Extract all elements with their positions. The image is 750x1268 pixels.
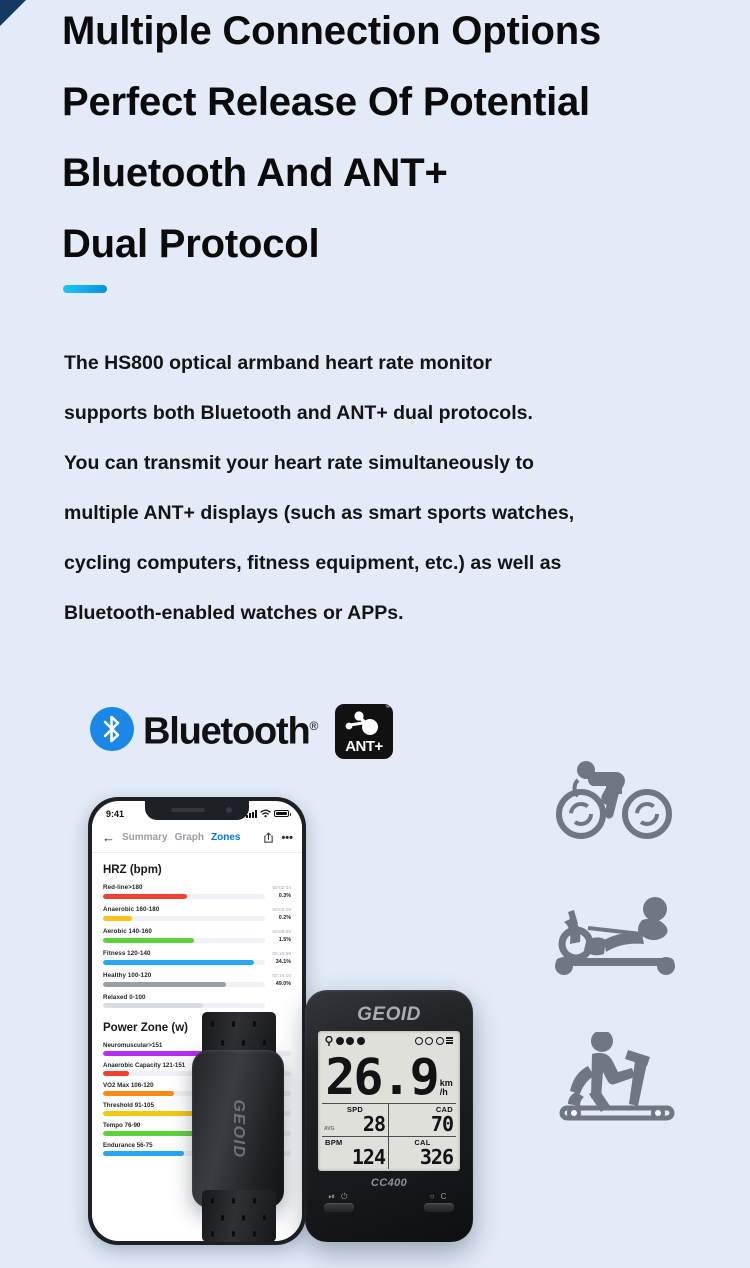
lcd-speed-unit-bottom: /h xyxy=(440,1087,448,1097)
hrz-row-pct: 1.5% xyxy=(271,937,291,943)
ant-plus-wordmark: ANT+ xyxy=(335,738,393,755)
description-paragraph: The HS800 optical armband heart rate mon… xyxy=(64,338,734,638)
lcd-pause-icon xyxy=(357,1037,365,1045)
rowing-machine-icon xyxy=(554,896,684,978)
hrz-row-pct: 0.3% xyxy=(271,893,291,899)
page-title: Multiple Connection Options Perfect Rele… xyxy=(62,0,722,280)
hrz-row-track xyxy=(103,960,265,965)
more-options-icon[interactable]: ••• xyxy=(281,832,293,844)
lcd-speed-value: 26.9 xyxy=(325,1051,437,1103)
armband-strap-bottom xyxy=(202,1190,276,1242)
lcd-speed-unit: km /h xyxy=(440,1079,453,1097)
description-line-1: The HS800 optical armband heart rate mon… xyxy=(64,338,734,388)
right-physical-button[interactable] xyxy=(424,1203,454,1212)
status-bar: 9:41 xyxy=(92,801,302,823)
hrz-row-time: 00:08:09 xyxy=(272,930,291,935)
headline-line-1: Multiple Connection Options xyxy=(62,0,722,67)
bike-computer-model-label: CC400 xyxy=(318,1177,460,1189)
hrz-row-pct: 0.2% xyxy=(271,915,291,921)
wifi-icon xyxy=(260,809,271,818)
hrz-row-label: Red-line>180 xyxy=(103,884,143,891)
hrz-row-fill xyxy=(103,916,132,921)
hrz-row-label: Aerobic 140-160 xyxy=(103,928,152,935)
battery-icon xyxy=(274,810,289,818)
hrz-row-time: 00:16:10 xyxy=(272,974,291,979)
bluetooth-wordmark: Bluetooth® xyxy=(143,706,317,752)
hrz-row-fill xyxy=(103,938,194,943)
ant-molecule-icon xyxy=(344,709,384,737)
hrz-row[interactable]: Relaxed 0-100 xyxy=(103,994,291,1008)
lcd-status-icons xyxy=(322,1034,456,1047)
lcd-left-icon-group xyxy=(325,1036,365,1046)
lcd-primary-readout: 26.9 km /h xyxy=(322,1047,456,1103)
armband-strap-holes xyxy=(202,1190,276,1242)
hrz-row-pct: 49.0% xyxy=(271,981,291,987)
lcd-metric-value: 70 xyxy=(392,1114,453,1134)
hrz-row[interactable]: Aerobic 140-16000:08:09 1.5% xyxy=(103,928,291,943)
status-bar-indicators xyxy=(246,809,289,818)
cyclist-icon xyxy=(554,752,674,842)
lcd-metric-cell-cad: CAD 70 xyxy=(389,1104,456,1137)
status-bar-time: 9:41 xyxy=(106,809,124,819)
compatible-equipment-icons xyxy=(554,752,704,1186)
hrz-row-fill xyxy=(103,894,187,899)
back-arrow-icon[interactable]: ← xyxy=(102,830,115,845)
tab-graph[interactable]: Graph xyxy=(175,832,204,843)
headline-line-2: Perfect Release Of Potential xyxy=(62,67,722,138)
lcd-play-icon xyxy=(346,1037,354,1045)
headline-line-3: Bluetooth And ANT+ xyxy=(62,138,722,209)
hrz-row-pct: 34.1% xyxy=(271,959,291,965)
ant-plus-logo: ™ ANT+ xyxy=(335,704,393,759)
tab-summary[interactable]: Summary xyxy=(122,832,168,843)
hrz-row-fill xyxy=(103,1003,203,1008)
hrz-row-track xyxy=(103,982,265,987)
description-line-2: supports both Bluetooth and ANT+ dual pr… xyxy=(64,388,734,438)
treadmill-icon xyxy=(554,1032,684,1132)
lcd-cadence-sensor-icon xyxy=(415,1037,423,1045)
hrz-row-fill xyxy=(103,960,254,965)
armband-heart-rate-monitor: GEOID xyxy=(192,1012,284,1240)
bike-computer-brand-label: GEOID xyxy=(318,1004,460,1026)
lcd-metric-cell-bpm: BPM 124 xyxy=(322,1137,389,1170)
lcd-metric-cell-spd: SPD 28 AVG xyxy=(322,1104,389,1137)
hrz-row[interactable]: Red-line>18000:02:04 0.3% xyxy=(103,884,291,899)
hrz-row-track xyxy=(103,1003,265,1008)
hrz-row-track xyxy=(103,938,265,943)
headline-line-4: Dual Protocol xyxy=(62,209,722,280)
lcd-right-icon-group xyxy=(415,1037,454,1045)
bluetooth-registered-mark: ® xyxy=(310,719,318,733)
armband-sensor-pod: GEOID xyxy=(192,1050,284,1208)
lcd-battery-icon xyxy=(446,1037,453,1044)
hrz-row-time: 00:03:29 xyxy=(272,908,291,913)
description-line-5: cycling computers, fitness equipment, et… xyxy=(64,538,734,588)
page-mode-icon: ○ C xyxy=(424,1192,454,1201)
hrz-row-track xyxy=(103,916,265,921)
hrz-row-time: 00:16:59 xyxy=(272,952,291,957)
hrz-section-title: HRZ (bpm) xyxy=(103,864,291,876)
lcd-heart-rate-sensor-icon xyxy=(425,1037,433,1045)
tab-zones[interactable]: Zones xyxy=(211,832,240,843)
hrz-row[interactable]: Anaerobic 160-18000:03:29 0.2% xyxy=(103,906,291,921)
left-physical-button[interactable] xyxy=(324,1203,354,1212)
lcd-metric-sublabel: AVG xyxy=(324,1126,334,1132)
accent-divider xyxy=(63,285,107,293)
description-line-4: multiple ANT+ displays (such as smart sp… xyxy=(64,488,734,538)
armband-brand-label: GEOID xyxy=(229,1099,247,1158)
description-line-6: Bluetooth-enabled watches or APPs. xyxy=(64,588,734,638)
power-lap-icon: ⏯ ⏻ xyxy=(324,1192,354,1201)
lcd-metric-value: 124 xyxy=(325,1147,385,1167)
lcd-speed-sensor-icon xyxy=(436,1037,444,1045)
lcd-metric-cell-cal: CAL 326 xyxy=(389,1137,456,1170)
bluetooth-logo: Bluetooth® xyxy=(90,706,317,752)
hrz-row-fill xyxy=(103,982,226,987)
lcd-metric-grid: SPD 28 AVG CAD 70 BPM 124 CAL 326 xyxy=(322,1103,456,1169)
hrz-row[interactable]: Fitness 120-14000:16:59 34.1% xyxy=(103,950,291,965)
bike-computer-device: GEOID 26.9 km /h S xyxy=(305,990,473,1242)
bluetooth-icon xyxy=(90,707,134,751)
hrz-row-label: Healthy 100-120 xyxy=(103,972,151,979)
hrz-row-label: Relaxed 0-100 xyxy=(103,994,146,1001)
hrz-row-time: 00:02:04 xyxy=(272,886,291,891)
hrz-row-label: Anaerobic 160-180 xyxy=(103,906,159,913)
hrz-row-track xyxy=(103,894,265,899)
bike-computer-button-row: ⏯ ⏻ ○ C xyxy=(318,1192,460,1212)
bike-computer-lcd-screen: 26.9 km /h SPD 28 AVG CAD 70 BPM 124 CAL xyxy=(318,1031,460,1171)
share-icon xyxy=(263,832,274,843)
hrz-row[interactable]: Healthy 100-12000:16:10 49.0% xyxy=(103,972,291,987)
corner-triangle-decoration xyxy=(0,0,26,26)
lcd-metric-value: 326 xyxy=(392,1147,453,1167)
bike-computer-left-button-group[interactable]: ⏯ ⏻ xyxy=(324,1192,354,1212)
hrz-row-label: Fitness 120-140 xyxy=(103,950,151,957)
bluetooth-word-text: Bluetooth xyxy=(143,711,310,753)
app-navbar: ← Summary Graph Zones ••• xyxy=(92,823,302,853)
lcd-clock-icon xyxy=(336,1037,344,1045)
ant-trademark-mark: ™ xyxy=(385,705,390,711)
power-zone-row-fill xyxy=(103,1091,174,1096)
gps-location-icon xyxy=(325,1036,333,1046)
cellular-signal-icon xyxy=(246,810,257,818)
power-zone-row-fill xyxy=(103,1071,129,1076)
power-zone-row-fill xyxy=(103,1151,184,1156)
description-line-3: You can transmit your heart rate simulta… xyxy=(64,438,734,488)
bike-computer-right-button-group[interactable]: ○ C xyxy=(424,1192,454,1212)
